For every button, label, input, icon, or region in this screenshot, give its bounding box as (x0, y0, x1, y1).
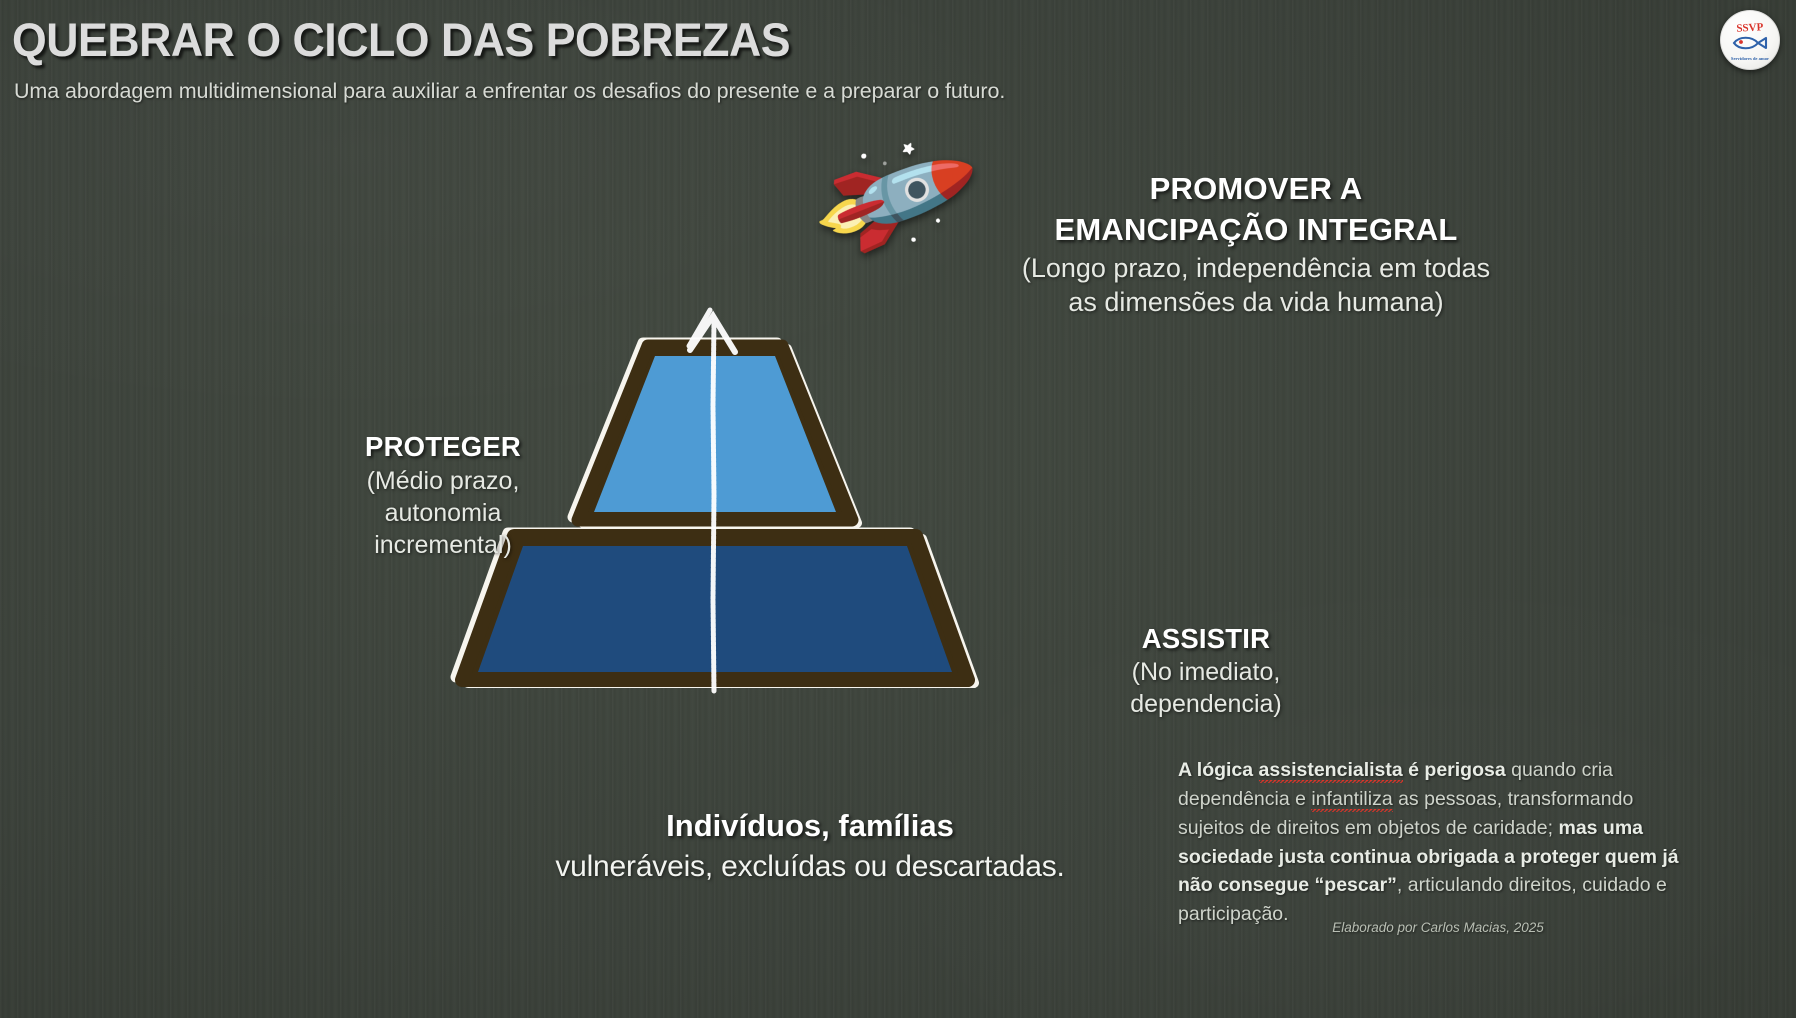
note-segment-bold-2: é perigosa (1403, 759, 1506, 781)
assistir-heading: ASSISTIR (1046, 622, 1366, 656)
note-segment-4: infantiliza (1311, 788, 1392, 812)
author-credit: Elaborado por Carlos Macias, 2025 (1178, 920, 1698, 935)
page-title: QUEBRAR O CICLO DAS POBREZAS (12, 12, 790, 67)
assistir-sub-line1: (No imediato, (1046, 658, 1366, 688)
promover-sub-line2: as dimensões da vida humana) (996, 287, 1516, 318)
base-caption: Indivíduos, famílias vulneráveis, excluí… (410, 808, 1210, 884)
note-segment-2: é perigosa (1403, 759, 1506, 781)
page-subtitle: Uma abordagem multidimensional para auxi… (14, 79, 1005, 104)
proteger-sub-line2: autonomia (330, 498, 556, 528)
promover-sub-line1: (Longo prazo, independência em todas (996, 253, 1516, 284)
label-promover: PROMOVER A EMANCIPAÇÃO INTEGRAL (Longo p… (996, 168, 1516, 318)
slide-canvas: QUEBRAR O CICLO DAS POBREZAS Uma abordag… (0, 0, 1796, 1018)
promover-heading-line1: PROMOVER A (996, 168, 1516, 209)
rocket-icon: 🚀 (807, 118, 980, 277)
proteger-heading: PROTEGER (330, 430, 556, 464)
proteger-sub-line3: incremental) (330, 530, 556, 560)
assistir-sub-line2: dependencia) (1046, 690, 1366, 720)
proteger-sub-line1: (Médio prazo, (330, 466, 556, 496)
pyramid-diagram (452, 336, 972, 796)
promover-heading-line2: EMANCIPAÇÃO INTEGRAL (996, 209, 1516, 250)
note-segment-bold-1: assistencialista (1259, 759, 1403, 783)
caption-line2: vulneráveis, excluídas ou descartadas. (410, 850, 1210, 884)
note-segment-1: assistencialista (1259, 759, 1403, 783)
note-segment-0: A lógica (1178, 759, 1259, 781)
ssvp-logo: SSVP Servidores de amor (1720, 10, 1780, 70)
logo-acronym-text: SSVP (1736, 21, 1764, 34)
fish-icon (1734, 38, 1766, 49)
label-assistir: ASSISTIR (No imediato, dependencia) (1046, 622, 1366, 719)
logo-tagline-text: Servidores de amor (1731, 56, 1769, 61)
caption-line1: Indivíduos, famílias (410, 808, 1210, 844)
fish-eye (1739, 40, 1743, 44)
assistencialismo-note: A lógica assistencialista é perigosa qua… (1178, 756, 1698, 929)
assistir-face (478, 546, 952, 672)
label-proteger: PROTEGER (Médio prazo, autonomia increme… (330, 430, 556, 560)
pyramid-level-proteger (573, 343, 857, 523)
note-segment-bold-0: A lógica (1178, 759, 1259, 781)
